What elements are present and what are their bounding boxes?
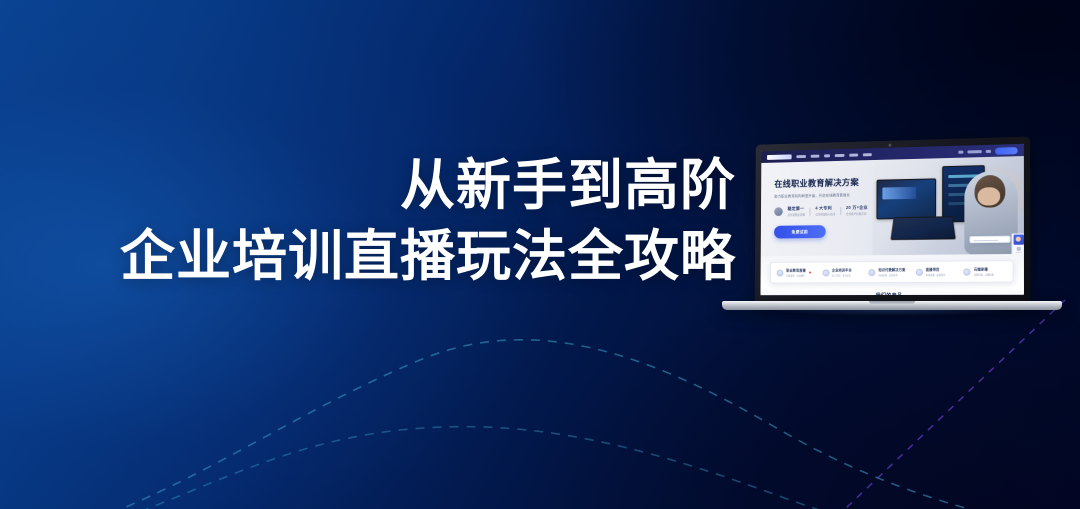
nav-link-6[interactable]: [863, 153, 872, 156]
site-nav-links: [796, 153, 871, 158]
widget-item-consult[interactable]: [1013, 247, 1023, 253]
avatar[interactable]: [1013, 234, 1023, 244]
laptop-screen: 在线职业教育解决方案 助力职业教育机构转型升级，开启在线教育新增长 稳定第一 高…: [760, 144, 1024, 295]
laptop-base: [722, 301, 1062, 312]
hero-stat-2-label: 自主研发核心技术: [815, 212, 835, 216]
feature-cards-section: 职业教育直播 在线课堂 · 互动教学 企业培训平台 员工培训 · 考试认证: [761, 254, 1024, 288]
feature-card[interactable]: 云端录播 录制存储 · 点播回看: [962, 266, 1009, 276]
card-text-3: 知识付费解决方案 内容变现 · 会员体系: [878, 267, 905, 277]
site-cta-button[interactable]: [995, 147, 1018, 155]
card-title-2: 企业培训平台: [832, 267, 852, 272]
headline-line-2: 企业培训直播玩法全攻略: [0, 229, 742, 284]
hero-stat-1: 稳定第一 高并发稳定直播: [787, 206, 804, 217]
card-text-5: 云端录播 录制存储 · 点播回看: [974, 266, 994, 276]
card-sub-5: 录制存储 · 点播回看: [974, 272, 994, 276]
card-text-1: 职业教育直播 在线课堂 · 互动教学: [786, 268, 806, 278]
webcam-icon: [888, 144, 891, 147]
card-icon-2: [822, 269, 829, 276]
card-icon-1: [777, 269, 784, 276]
card-badge-dot: [810, 271, 812, 273]
card-sub-2: 员工培训 · 考试认证: [832, 273, 852, 277]
login-link[interactable]: [986, 149, 991, 152]
floating-service-widget[interactable]: [1012, 233, 1024, 256]
card-text-2: 企业培训平台 员工培训 · 考试认证: [832, 267, 852, 277]
card-icon-5: [964, 268, 971, 275]
banner-headline: 从新手到高阶 企业培训直播玩法全攻略: [0, 158, 742, 284]
card-title-1: 职业教育直播: [786, 268, 806, 273]
laptop-base-bar: [722, 301, 1062, 310]
card-sub-3: 内容变现 · 会员体系: [878, 273, 905, 277]
hero-stat-3-label: 企业客户信赖之选: [846, 212, 868, 216]
feature-cards-row: 职业教育直播 在线课堂 · 互动教学 企业培训平台 员工培训 · 考试认证: [770, 260, 1014, 283]
hero-subtitle: 助力职业教育机构转型升级，开启在线教育新增长: [774, 192, 882, 199]
stats-badge-icon: [774, 207, 783, 216]
wave-line-upper: [95, 340, 1010, 509]
nav-link-1[interactable]: [796, 154, 806, 157]
nav-link-4[interactable]: [835, 153, 845, 156]
site-logo: [767, 154, 792, 160]
hero-stats: 稳定第一 高并发稳定直播 4 大专利 自主研发核心技术 20 万+企业: [774, 204, 882, 217]
laptop-base-notch: [869, 301, 915, 304]
hero-stat-1-label: 高并发稳定直播: [787, 213, 804, 217]
desk-laptop-icon: [891, 216, 956, 240]
section-title: 我们的产品: [760, 292, 1024, 295]
headline-line-1: 从新手到高阶: [0, 158, 742, 213]
laptop-mockup: 在线职业教育解决方案 助力职业教育机构转型升级，开启在线教育新增长 稳定第一 高…: [722, 140, 1062, 320]
chat-prompt-box[interactable]: [969, 236, 1010, 244]
hero-stat-1-value: 稳定第一: [788, 206, 805, 212]
wave-line-lower: [60, 427, 1020, 509]
diagonal-dash-line: [845, 300, 1065, 509]
card-icon-4: [916, 268, 923, 275]
consult-icon: [1016, 247, 1020, 251]
hero-title: 在线职业教育解决方案: [774, 176, 882, 190]
nav-link-2[interactable]: [811, 154, 820, 157]
stat-divider-1: [810, 207, 811, 215]
card-title-5: 云端录播: [974, 266, 994, 271]
hero-cta-label: 免费试用: [792, 229, 808, 235]
feature-card[interactable]: 企业培训平台 员工培训 · 考试认证: [820, 267, 864, 277]
card-title-3: 知识付费解决方案: [878, 267, 905, 272]
card-sub-1: 在线课堂 · 互动教学: [786, 273, 806, 277]
feature-card[interactable]: 知识付费解决方案 内容变现 · 会员体系: [867, 267, 912, 277]
hero-stat-2-value: 4 大专利: [815, 205, 835, 211]
laptop-base-glow: [732, 310, 1052, 318]
stat-divider-2: [840, 207, 841, 215]
consult-label: [1015, 251, 1021, 253]
products-section: 我们的产品 一站式在线教育解决方案，助力机构数字化转型: [760, 287, 1024, 296]
hero-stat-3-value: 20 万+企业: [846, 205, 868, 211]
feature-card[interactable]: 职业教育直播 在线课堂 · 互动教学: [775, 268, 819, 278]
card-sub-4: 电商直播 · 私域转化: [926, 273, 946, 277]
nav-link-3[interactable]: [824, 154, 830, 157]
card-text-4: 直播带货 电商直播 · 私域转化: [926, 267, 946, 277]
hero-stat-3: 20 万+企业 企业客户信赖之选: [846, 205, 868, 216]
phone-icon[interactable]: [967, 150, 981, 153]
hero-copy: 在线职业教育解决方案 助力职业教育机构转型升级，开启在线教育新增长 稳定第一 高…: [774, 176, 882, 239]
nav-spacer: [877, 152, 954, 154]
feature-card[interactable]: 直播带货 电商直播 · 私域转化: [914, 267, 960, 277]
card-title-4: 直播带货: [926, 267, 946, 272]
hero-cta-button[interactable]: 免费试用: [774, 225, 826, 238]
search-icon[interactable]: [958, 150, 963, 153]
site-nav-utilities: [958, 147, 1017, 156]
site-hero: 在线职业教育解决方案 助力职业教育机构转型升级，开启在线教育新增长 稳定第一 高…: [761, 156, 1024, 256]
monitor-left-icon: [876, 178, 936, 219]
nav-link-5[interactable]: [849, 153, 858, 156]
laptop-lid: 在线职业教育解决方案 助力职业教育机构转型升级，开启在线教育新增长 稳定第一 高…: [755, 137, 1030, 303]
hero-stat-2: 4 大专利 自主研发核心技术: [815, 205, 835, 216]
marketing-banner: 从新手到高阶 企业培训直播玩法全攻略: [0, 0, 1080, 509]
card-icon-3: [869, 269, 876, 276]
